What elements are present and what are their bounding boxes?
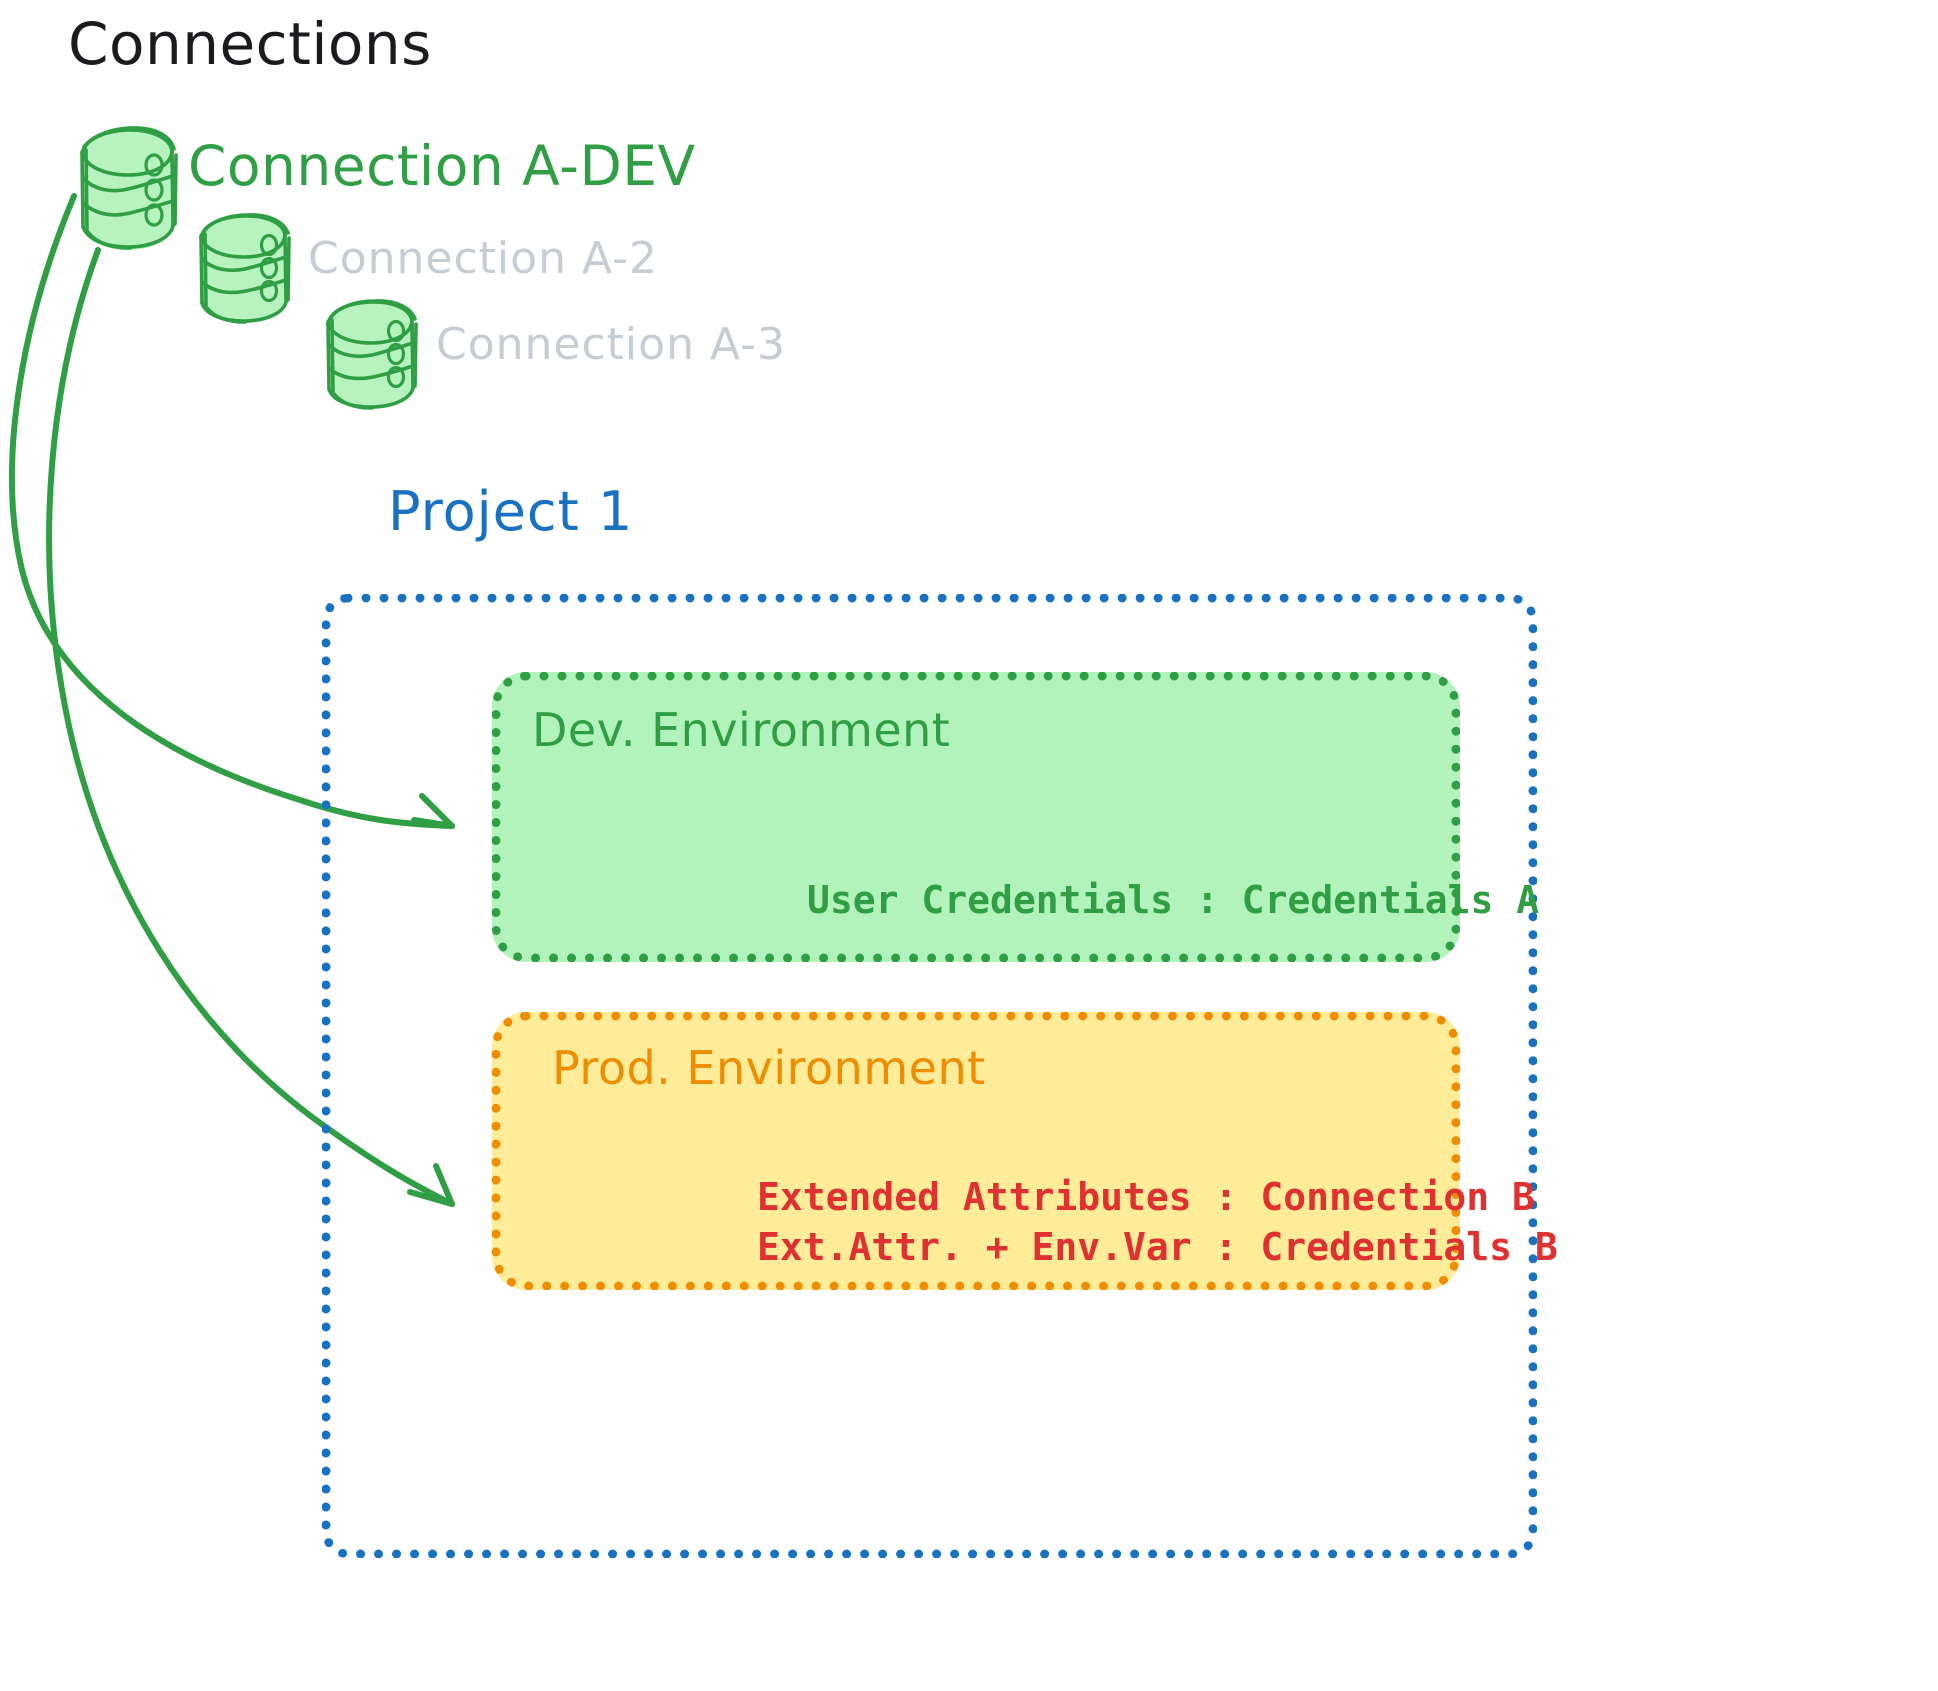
diagram-canvas: Connections Connection A-DEV Connection … — [0, 0, 1938, 1691]
dev-environment-title: Dev. Environment — [532, 706, 950, 754]
prod-environment-row-0: Extended Attributes : Connection B — [757, 1178, 1535, 1218]
page-title: Connections — [68, 14, 432, 75]
database-cylinder-icon[interactable] — [328, 301, 416, 409]
prod-environment-row-1: Ext.Attr. + Env.Var : Credentials B — [757, 1228, 1558, 1268]
database-cylinder-icon[interactable] — [82, 128, 176, 250]
database-cylinder-icon[interactable] — [201, 215, 289, 323]
connection-label-a-dev[interactable]: Connection A-DEV — [188, 138, 696, 196]
connection-label-a-3[interactable]: Connection A-3 — [436, 322, 786, 368]
connection-label-a-2[interactable]: Connection A-2 — [308, 236, 658, 282]
prod-environment-title: Prod. Environment — [552, 1044, 986, 1092]
dev-environment-row-0: User Credentials : Credentials A — [807, 881, 1539, 921]
project-title: Project 1 — [388, 484, 633, 541]
